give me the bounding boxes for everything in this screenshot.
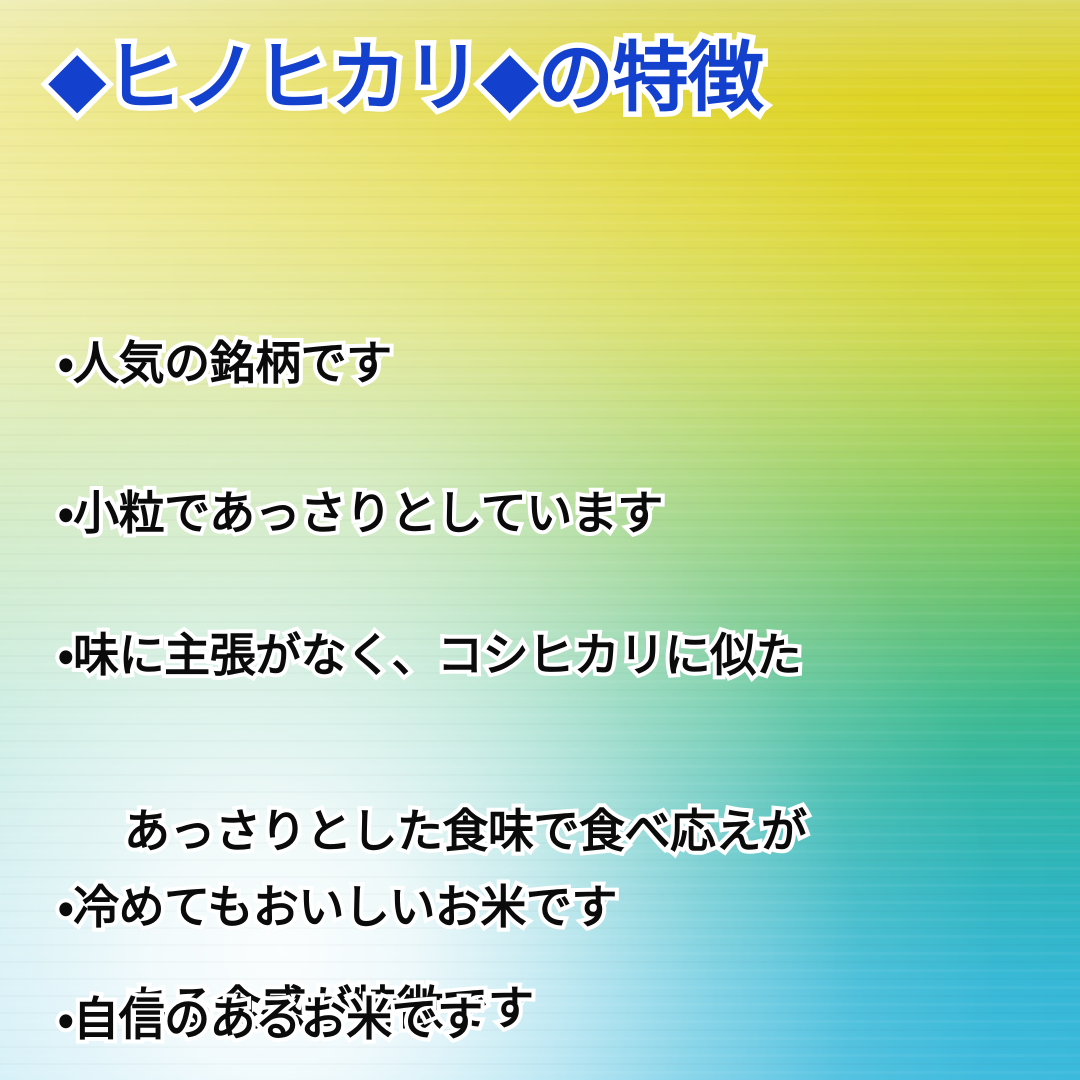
list-item: ・自信のあるお米です <box>58 872 483 1080</box>
poster-content: ◆ヒノヒカリ◆の特徴 ・人気の銘柄です ・小粒であっさりとしています ・味に主張… <box>0 0 1080 1080</box>
poster-canvas: ◆ヒノヒカリ◆の特徴 ・人気の銘柄です ・小粒であっさりとしています ・味に主張… <box>0 0 1080 1080</box>
page-title: ◆ヒノヒカリ◆の特徴 <box>48 40 763 116</box>
list-item-line: ・味に主張がなく、コシヒカリに似た <box>58 626 807 685</box>
list-item-line: ・自信のあるお米です <box>58 990 483 1049</box>
